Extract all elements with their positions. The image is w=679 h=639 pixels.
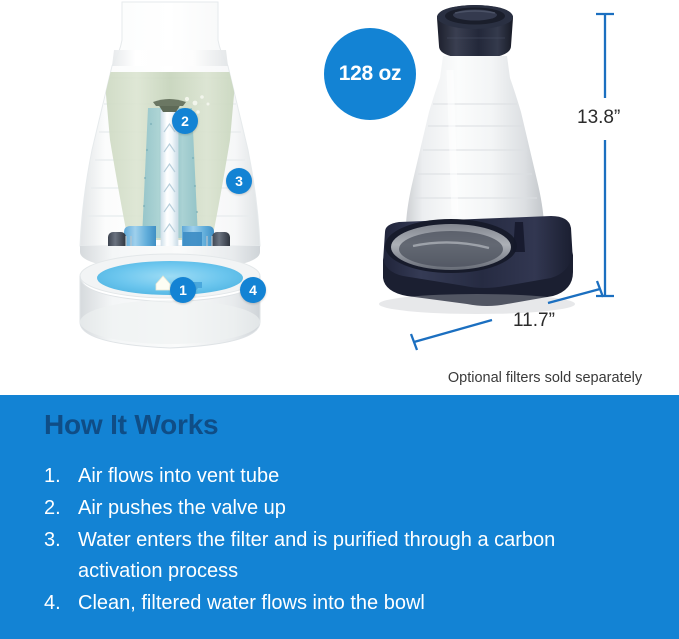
height-dimension-label: 13.8” [577,107,620,129]
bowl-base [80,246,260,348]
step-text: Air pushes the valve up [78,493,578,524]
width-dimension-label: 11.7” [513,310,555,332]
list-item: 1. Air flows into vent tube [44,461,644,492]
width-cap-left [411,334,417,350]
product-bottle [406,56,544,224]
callout-badge-3: 3 [226,168,252,194]
list-item: 3. Water enters the filter and is purifi… [44,525,644,587]
callout-badge-2: 2 [172,108,198,134]
step-text: Air flows into vent tube [78,461,578,492]
infographic-page: 1 2 3 4 [0,0,679,639]
list-item: 2. Air pushes the valve up [44,493,644,524]
capacity-badge: 128 oz [324,28,416,120]
callout-badge-1: 1 [170,277,196,303]
step-number: 3. [44,525,78,556]
product-base [383,216,573,306]
how-it-works-title: How It Works [44,409,218,441]
product-cap [437,5,513,59]
step-text: Water enters the filter and is purified … [78,525,578,587]
how-it-works-panel: How It Works 1. Air flows into vent tube… [0,395,679,639]
step-number: 1. [44,461,78,492]
cutaway-diagram: 1 2 3 4 [52,0,288,378]
step-number: 4. [44,588,78,619]
capacity-badge-label: 128 oz [339,62,401,86]
list-item: 4. Clean, filtered water flows into the … [44,588,644,619]
how-it-works-list: 1. Air flows into vent tube 2. Air pushe… [44,461,644,620]
step-number: 2. [44,493,78,524]
filters-footnote: Optional filters sold separately [420,370,670,386]
step-text: Clean, filtered water flows into the bow… [78,588,578,619]
callout-badge-4: 4 [240,277,266,303]
product-illustration-area: 1 2 3 4 [0,0,679,395]
